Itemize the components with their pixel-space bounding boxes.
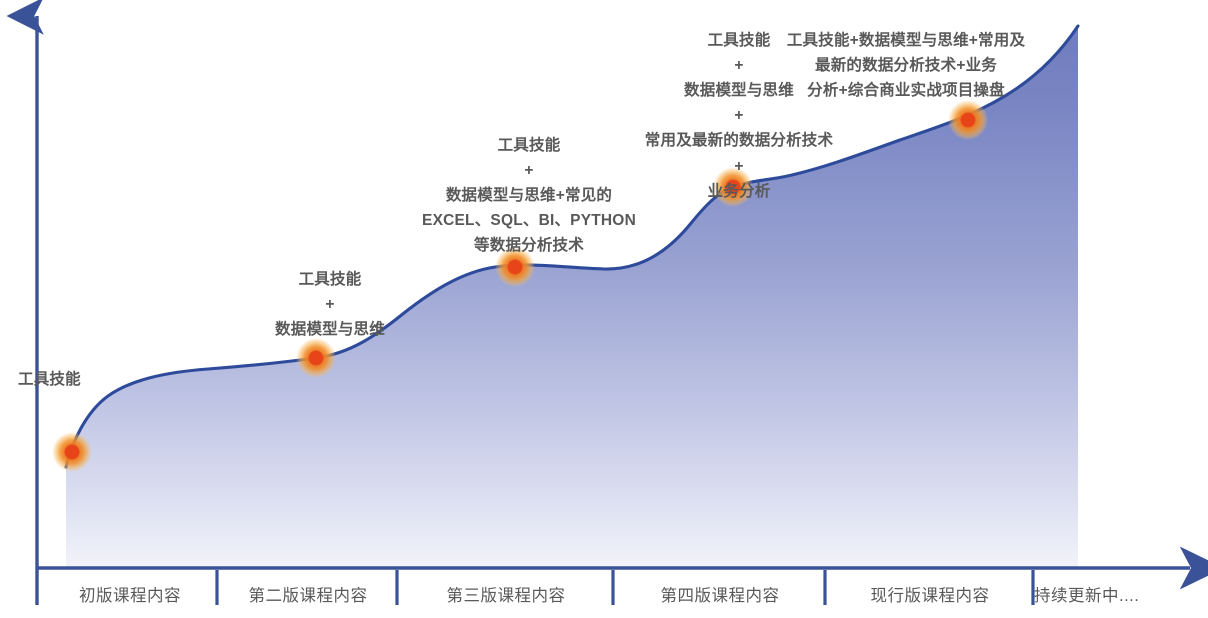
x-axis-label-1: 第二版课程内容 [218, 582, 398, 606]
point-annotation-3: 工具技能 + 数据模型与思维+常见的 EXCEL、SQL、BI、PYTHON 等… [415, 133, 643, 259]
x-axis-label-5: 持续更新中.... [1034, 582, 1204, 606]
data-point-marker[interactable] [948, 100, 988, 140]
x-axis-label-2: 第三版课程内容 [398, 582, 614, 606]
x-axis-label-4: 现行版课程内容 [826, 582, 1034, 606]
x-axis-label-0: 初版课程内容 [42, 582, 218, 606]
x-axis-label-3: 第四版课程内容 [614, 582, 826, 606]
data-point-marker[interactable] [52, 432, 92, 472]
chart-canvas: 工具技能 工具技能 + 数据模型与思维 工具技能 + 数据模型与思维+常见的 E… [0, 0, 1208, 618]
point-annotation-2: 工具技能 + 数据模型与思维 [238, 267, 422, 342]
data-point-marker[interactable] [296, 338, 336, 378]
area-fill [66, 26, 1078, 568]
point-annotation-5: 工具技能+数据模型与思维+常用及 最新的数据分析技术+业务 分析+综合商业实战项… [782, 28, 1030, 103]
point-annotation-1: 工具技能 [18, 367, 138, 392]
